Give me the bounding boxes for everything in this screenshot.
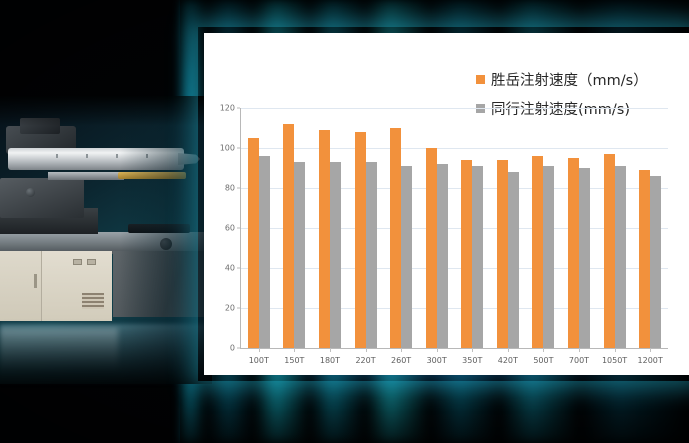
bar-series-b[interactable] [401,166,412,348]
legend-label-0: 胜岳注射速度（mm/s） [491,69,648,90]
x-tick-label: 700T [561,356,597,365]
x-tick-label: 350T [454,356,490,365]
x-tick-mark [472,348,473,352]
y-tick-label: 80 [225,184,235,193]
x-tick-mark [330,348,331,352]
bar-series-b[interactable] [472,166,483,348]
x-tick-label: 500T [526,356,562,365]
bar-group: 150T [277,108,313,348]
x-tick-label: 180T [312,356,348,365]
machine-tie-rod [48,172,124,180]
bar-group: 420T [490,108,526,348]
bar-series-b[interactable] [650,176,661,348]
y-tick-label: 120 [220,104,235,113]
bar-series-a[interactable] [568,158,579,348]
bar-series-b[interactable] [366,162,377,348]
legend-item-0[interactable]: 胜岳注射速度（mm/s） [476,69,676,90]
bar-series-a[interactable] [248,138,259,348]
bar-series-a[interactable] [390,128,401,348]
bar-series-b[interactable] [259,156,270,348]
x-axis-line [240,348,668,349]
bar-group: 260T [383,108,419,348]
x-tick-label: 100T [241,356,277,365]
x-tick-mark [437,348,438,352]
bar-group: 1050T [597,108,633,348]
bar-group: 220T [348,108,384,348]
legend-swatch-orange [476,75,485,84]
bar-groups: 100T150T180T220T260T300T350T420T500T700T… [241,108,668,348]
bar-series-b[interactable] [543,166,554,348]
x-tick-mark [366,348,367,352]
bar-series-a[interactable] [604,154,615,348]
x-tick-label: 260T [383,356,419,365]
machine-photo [0,96,212,384]
chart-panel: 胜岳注射速度（mm/s） 同行注射速度(mm/s) 02040608010012… [204,33,689,375]
x-tick-label: 150T [277,356,313,365]
x-tick-mark [508,348,509,352]
bar-group: 500T [526,108,562,348]
y-tick-label: 100 [220,144,235,153]
bar-series-a[interactable] [319,130,330,348]
machine-block-port [26,188,35,197]
bar-series-a[interactable] [497,160,508,348]
bar-group: 700T [561,108,597,348]
bar-series-b[interactable] [330,162,341,348]
x-tick-label: 1050T [597,356,633,365]
bar-series-b[interactable] [437,164,448,348]
x-tick-label: 1200T [632,356,668,365]
photo-fade-top [0,96,212,126]
bar-series-b[interactable] [508,172,519,348]
y-tick-label: 60 [225,224,235,233]
machine-injection-block [0,178,84,218]
y-tick-label: 20 [225,304,235,313]
x-tick-label: 300T [419,356,455,365]
bar-series-a[interactable] [283,124,294,348]
y-tick-label: 40 [225,264,235,273]
x-tick-label: 420T [490,356,526,365]
bar-series-b[interactable] [615,166,626,348]
machine-vent-grille [82,293,104,309]
bar-series-a[interactable] [461,160,472,348]
bar-group: 1200T [632,108,668,348]
x-tick-mark [615,348,616,352]
photo-fade-bottom [0,326,212,384]
bar-series-b[interactable] [294,162,305,348]
bar-group: 180T [312,108,348,348]
bar-series-a[interactable] [355,132,366,348]
x-tick-mark [543,348,544,352]
x-tick-mark [401,348,402,352]
bar-group: 100T [241,108,277,348]
bar-series-b[interactable] [579,168,590,348]
bar-group: 300T [419,108,455,348]
bar-series-a[interactable] [532,156,543,348]
y-tick-label: 0 [230,344,235,353]
slide-canvas: 胜岳注射速度（mm/s） 同行注射速度(mm/s) 02040608010012… [0,0,689,443]
x-tick-mark [579,348,580,352]
machine-indicator-2 [87,259,96,265]
x-tick-label: 220T [348,356,384,365]
x-tick-mark [259,348,260,352]
bar-group: 350T [454,108,490,348]
plot-area: 020406080100120 100T150T180T220T260T300T… [240,108,668,348]
machine-indicator-1 [73,259,82,265]
x-tick-mark [650,348,651,352]
bar-series-a[interactable] [426,148,437,348]
machine-door-latch [34,274,37,288]
bar-series-a[interactable] [639,170,650,348]
x-tick-mark [294,348,295,352]
